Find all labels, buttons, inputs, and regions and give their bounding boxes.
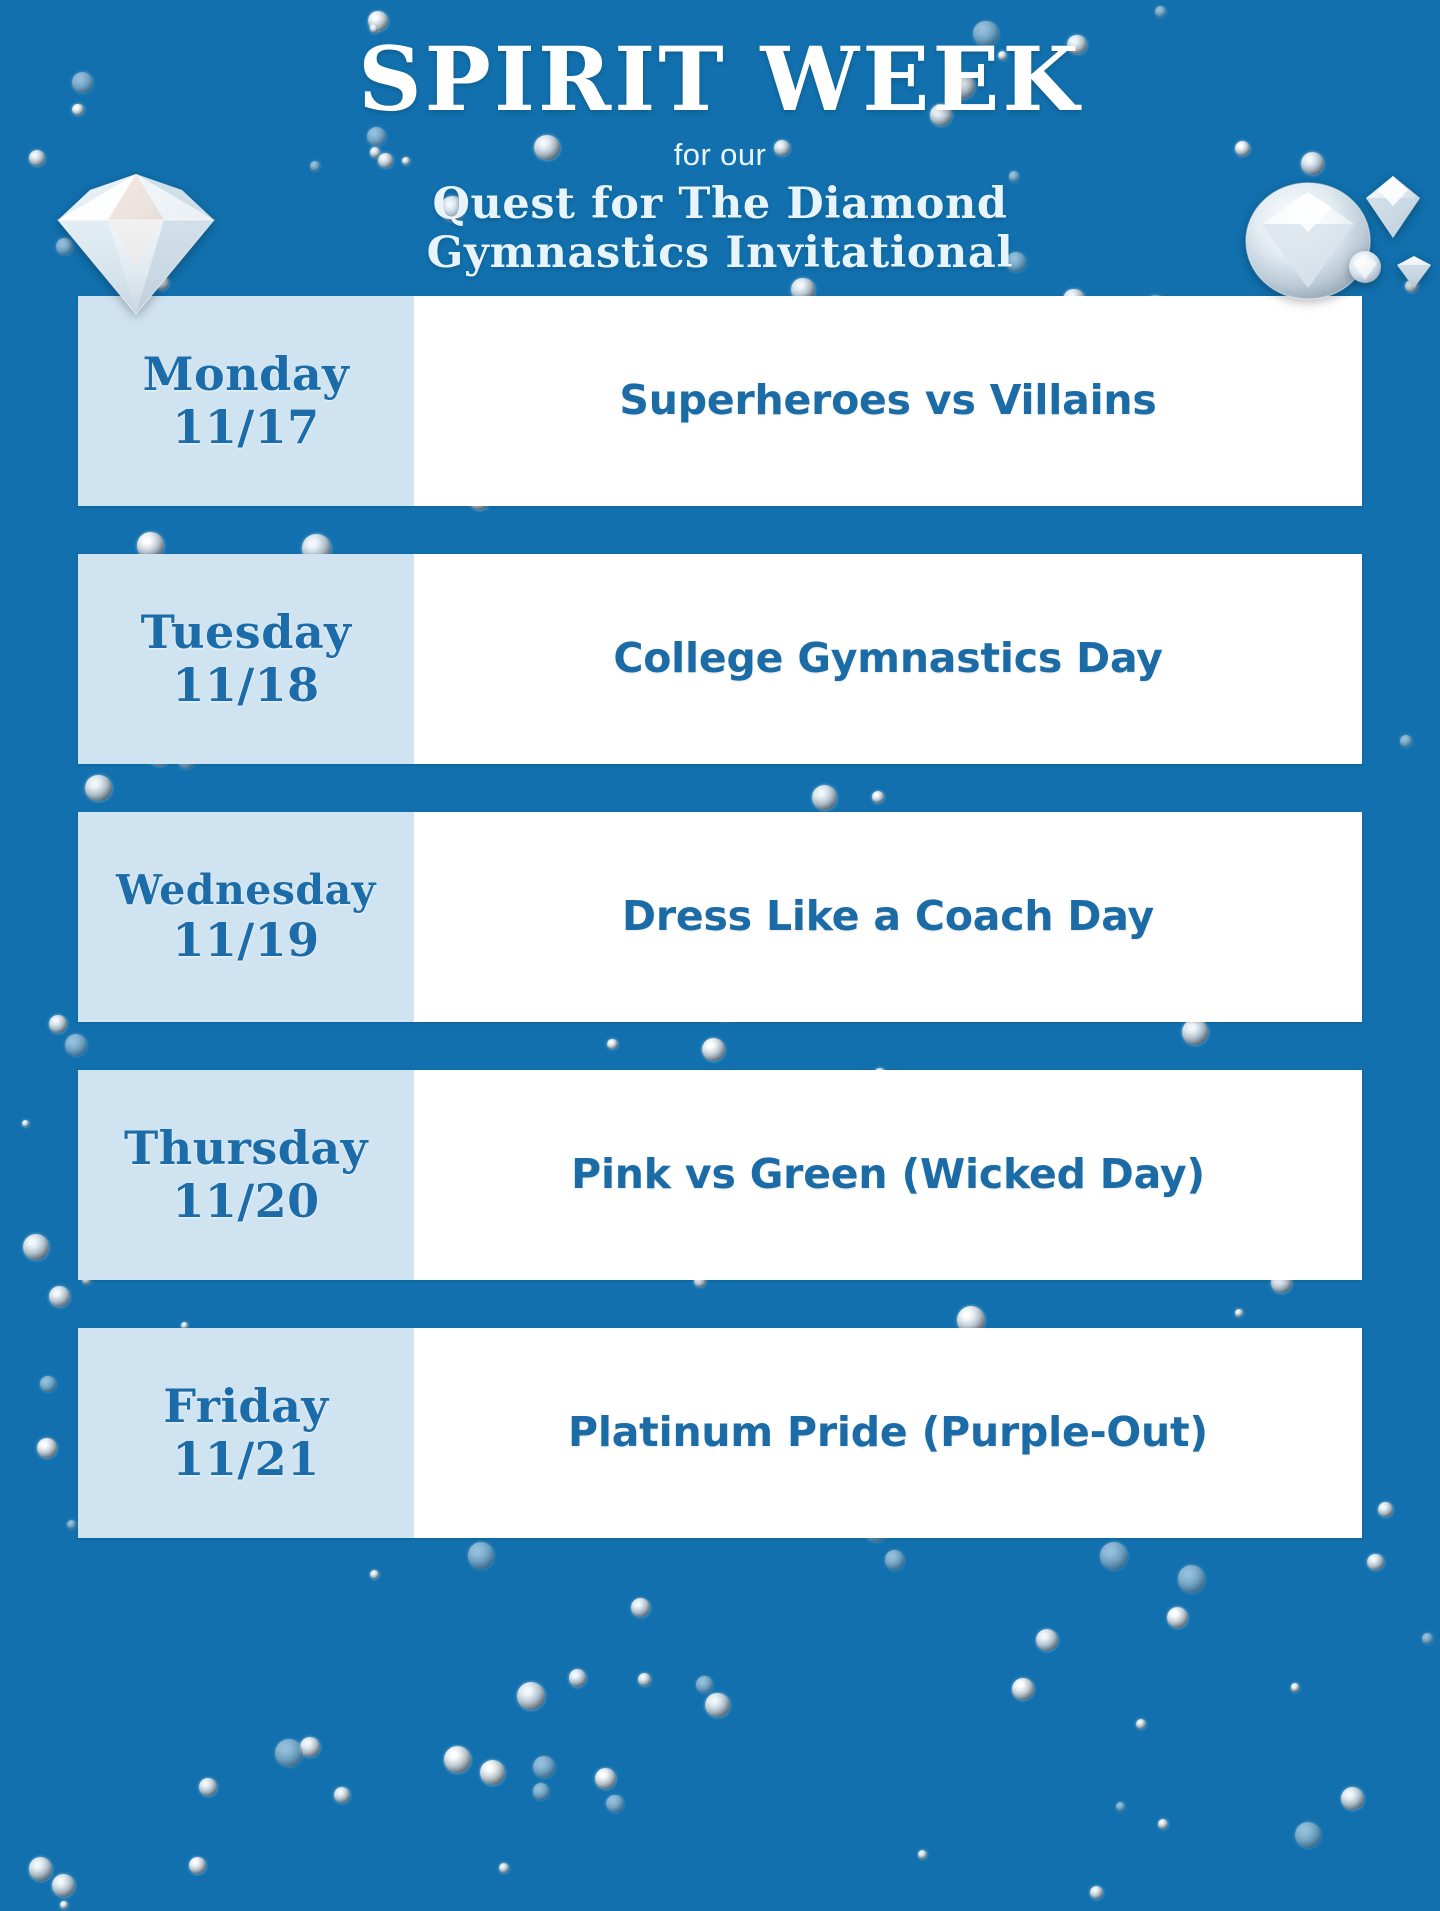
day-date: 11/21 [172, 1434, 319, 1485]
sparkle-icon [189, 1857, 206, 1874]
sparkle-icon [696, 1676, 713, 1693]
sparkle-icon [918, 1850, 927, 1859]
sparkle-icon [52, 1874, 75, 1897]
sparkle-icon [569, 1669, 586, 1686]
day-name: Friday [163, 1381, 328, 1432]
sparkle-icon [533, 1756, 556, 1779]
sparkle-icon [1012, 1678, 1034, 1700]
sparkle-icon [1116, 1802, 1125, 1811]
sparkle-icon [606, 1795, 624, 1813]
sparkle-icon [370, 1570, 379, 1579]
event-cell: Pink vs Green (Wicked Day) [414, 1070, 1362, 1280]
sparkle-icon [638, 1673, 652, 1687]
event-title: Platinum Pride (Purple-Out) [568, 1409, 1208, 1457]
sparkle-icon [517, 1682, 545, 1710]
sparkle-icon [199, 1778, 217, 1796]
sparkle-icon [1291, 1683, 1300, 1692]
sparkle-icon [533, 1783, 550, 1800]
day-date: 11/17 [172, 402, 319, 453]
schedule-row: Monday11/17Superheroes vs Villains [78, 296, 1362, 506]
day-date: 11/18 [172, 660, 319, 711]
event-cell: Superheroes vs Villains [414, 296, 1362, 506]
sparkle-icon [1405, 280, 1418, 293]
sparkle-icon [334, 1787, 350, 1803]
event-cell: Dress Like a Coach Day [414, 812, 1362, 1022]
event-cell: Platinum Pride (Purple-Out) [414, 1328, 1362, 1538]
schedule-row: Friday11/21Platinum Pride (Purple-Out) [78, 1328, 1362, 1538]
poster-header: SPIRIT WEEK for our Quest for The Diamon… [0, 0, 1440, 278]
day-date: 11/20 [172, 1176, 319, 1227]
sparkle-icon [300, 1737, 320, 1757]
sparkle-icon [595, 1768, 616, 1789]
event-title: College Gymnastics Day [613, 635, 1162, 683]
sparkle-icon [29, 1857, 53, 1881]
subtitle-line-2: Gymnastics Invitational [0, 229, 1440, 278]
sparkle-icon [480, 1760, 505, 1785]
sparkle-icon [1178, 1565, 1206, 1593]
sparkle-icon [1422, 1633, 1433, 1644]
day-name: Tuesday [141, 607, 352, 658]
spirit-week-poster: SPIRIT WEEK for our Quest for The Diamon… [0, 0, 1440, 1911]
event-cell: College Gymnastics Day [414, 554, 1362, 764]
sparkle-icon [1100, 1542, 1128, 1570]
sparkle-icon [275, 1739, 303, 1767]
sparkle-icon [1341, 1787, 1364, 1810]
schedule-row: Tuesday11/18College Gymnastics Day [78, 554, 1362, 764]
sparkle-icon [444, 1746, 471, 1773]
day-cell: Thursday11/20 [78, 1070, 414, 1280]
sparkle-icon [499, 1863, 509, 1873]
event-title: Superheroes vs Villains [619, 377, 1156, 425]
sparkle-icon [1158, 1819, 1169, 1830]
sparkle-icon [60, 1901, 68, 1909]
sparkle-icon [1136, 1719, 1146, 1729]
sparkle-icon [1090, 1886, 1103, 1899]
sparkle-icon [885, 1550, 905, 1570]
sparkle-icon [1167, 1607, 1188, 1628]
poster-subtitle: Quest for The Diamond Gymnastics Invitat… [0, 180, 1440, 278]
sparkle-icon [705, 1693, 730, 1718]
day-name: Monday [143, 349, 350, 400]
schedule-row: Thursday11/20Pink vs Green (Wicked Day) [78, 1070, 1362, 1280]
day-date: 11/19 [172, 915, 319, 966]
day-cell: Monday11/17 [78, 296, 414, 506]
sparkle-icon [1036, 1629, 1058, 1651]
day-name: Thursday [124, 1123, 368, 1174]
sparkle-icon [631, 1598, 650, 1617]
event-title: Dress Like a Coach Day [622, 893, 1154, 941]
subtitle-line-1: Quest for The Diamond [0, 180, 1440, 229]
schedule-row: Wednesday11/19Dress Like a Coach Day [78, 812, 1362, 1022]
day-name: Wednesday [116, 868, 376, 913]
sparkle-icon [1367, 1554, 1384, 1571]
page-title: SPIRIT WEEK [0, 34, 1440, 126]
event-title: Pink vs Green (Wicked Day) [571, 1151, 1205, 1199]
spirit-week-schedule: Monday11/17Superheroes vs VillainsTuesda… [0, 296, 1440, 1538]
day-cell: Friday11/21 [78, 1328, 414, 1538]
sparkle-icon [1295, 1822, 1321, 1848]
for-our-label: for our [0, 138, 1440, 172]
sparkle-icon [468, 1542, 494, 1568]
day-cell: Wednesday11/19 [78, 812, 414, 1022]
sparkle-icon [155, 276, 169, 290]
day-cell: Tuesday11/18 [78, 554, 414, 764]
